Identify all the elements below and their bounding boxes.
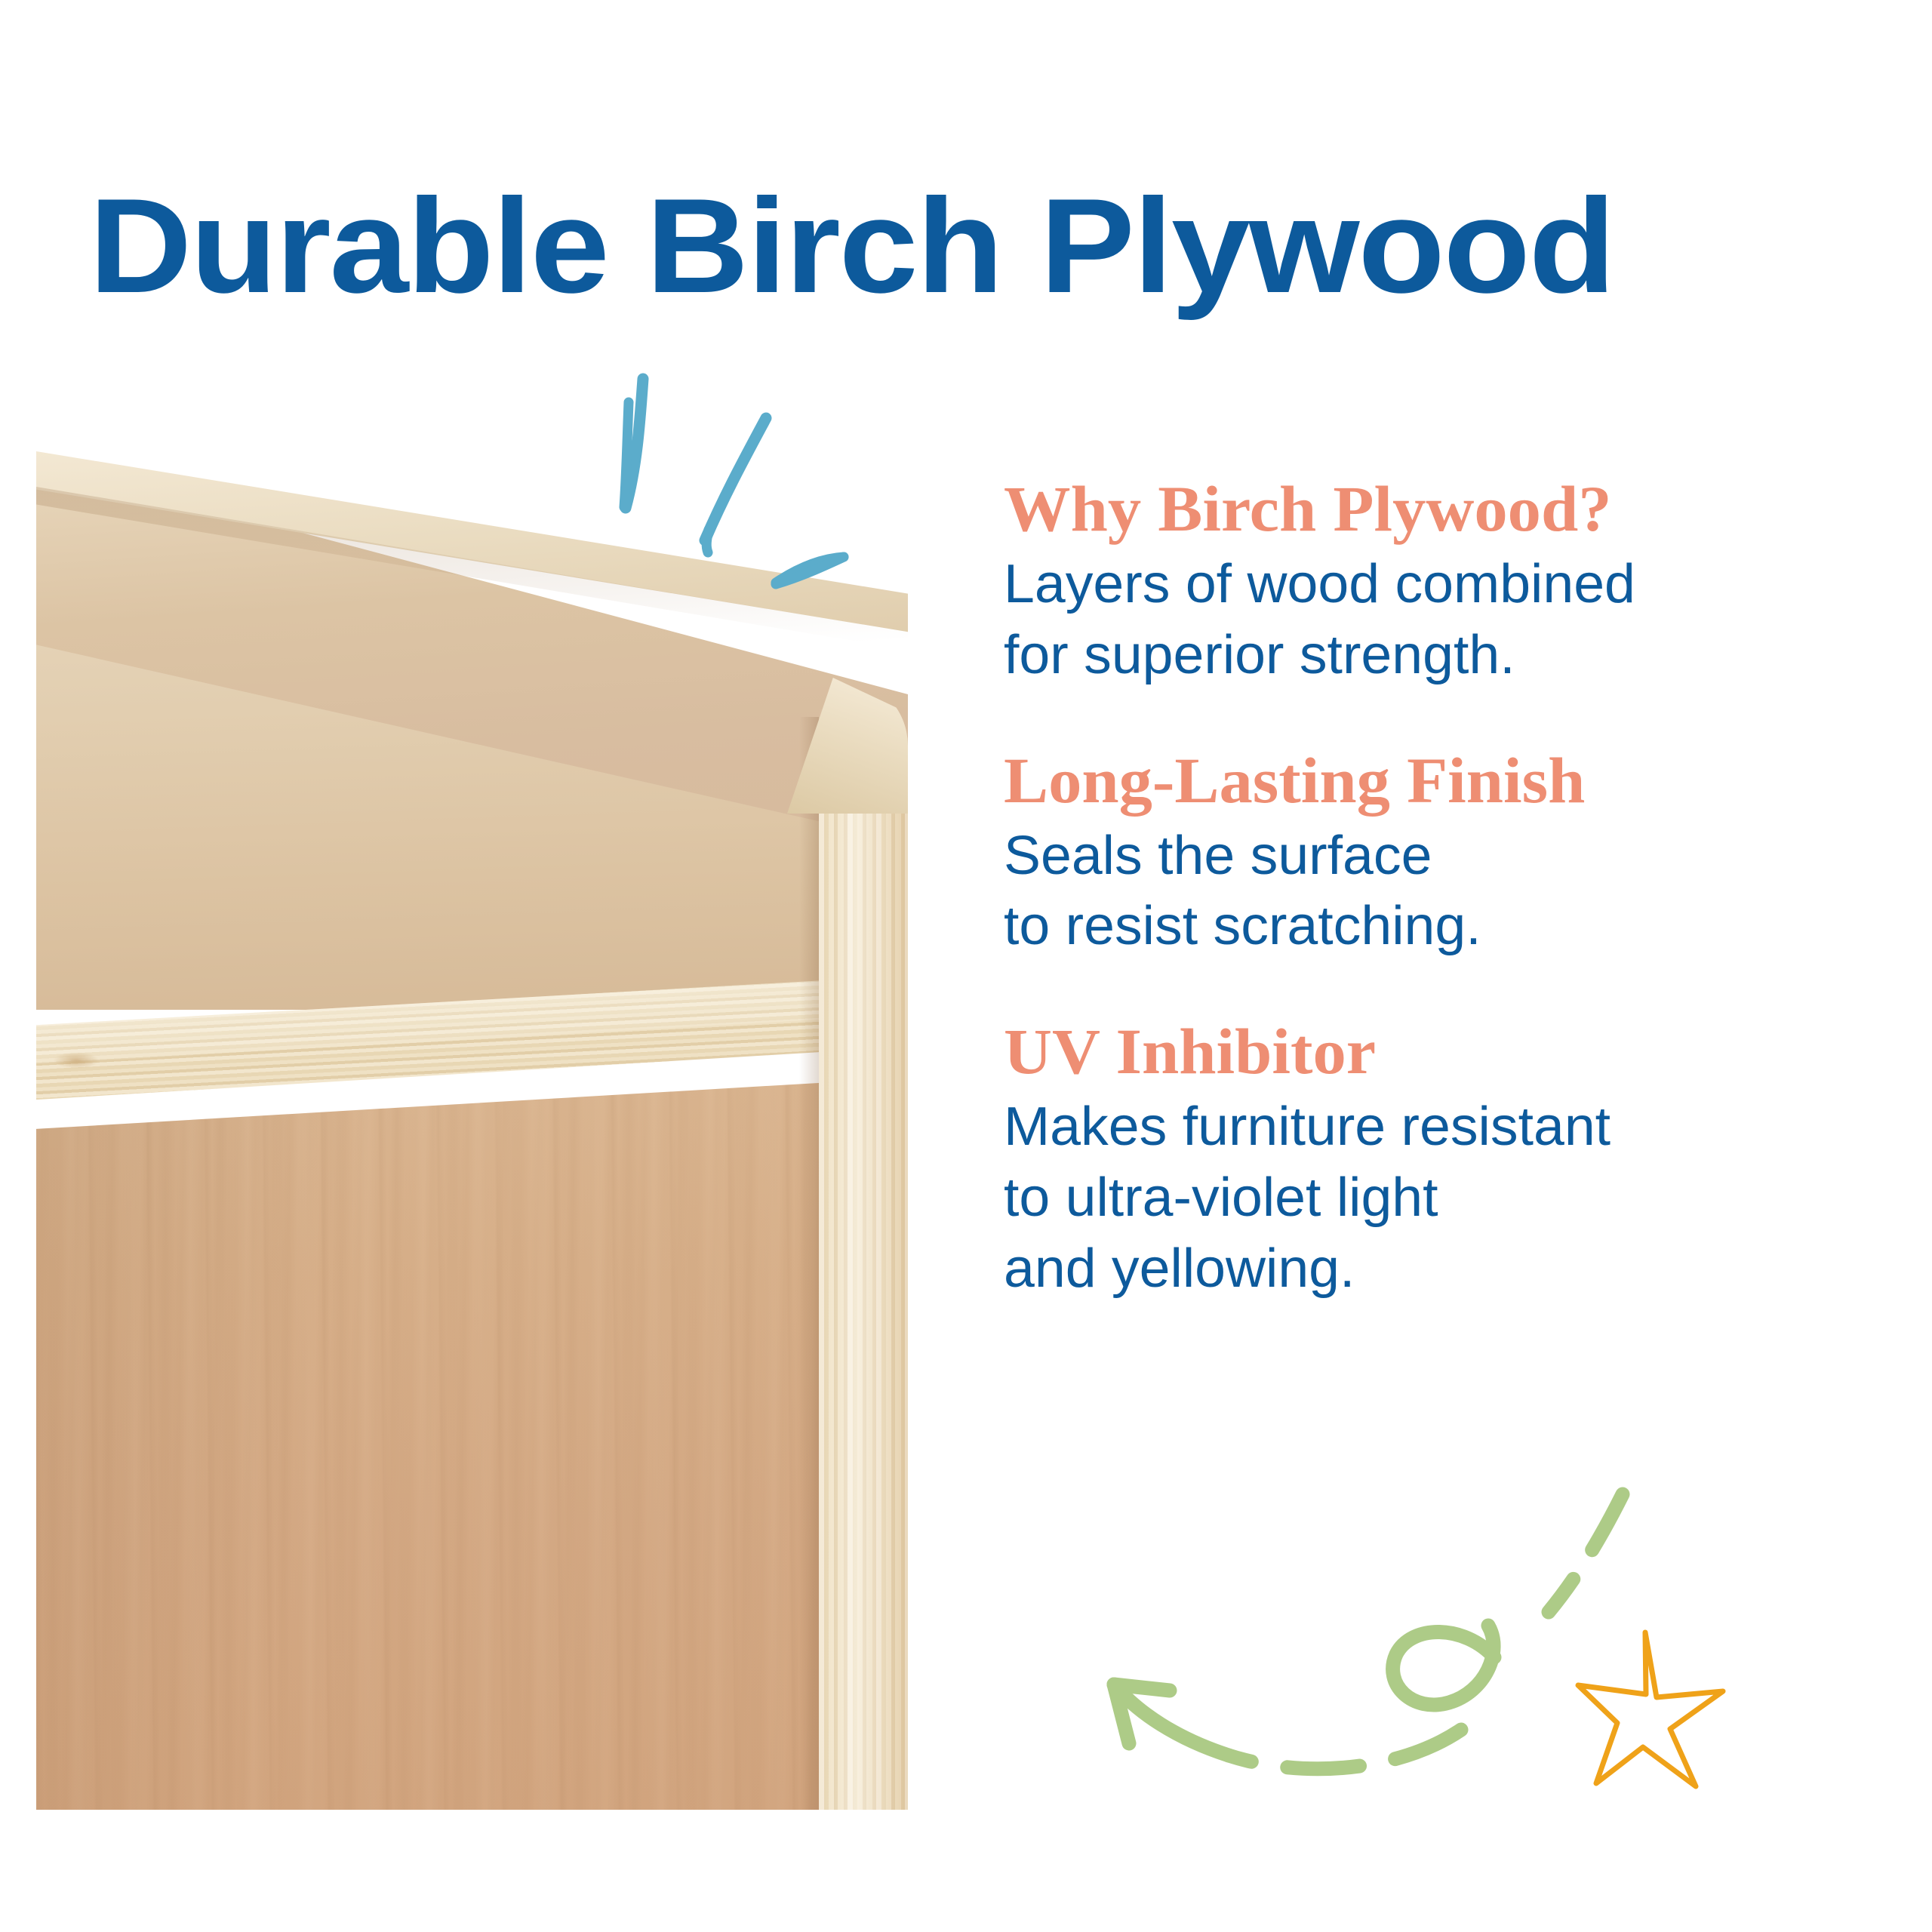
front-wood-panel	[36, 1078, 908, 1810]
rounded-plywood-edge-plies	[819, 709, 908, 1810]
sparkle-strokes-icon	[604, 368, 853, 595]
curved-dashed-arrow-icon	[1041, 1464, 1630, 1789]
feature-block-uv-inhibitor: UV Inhibitor Makes furniture resistant t…	[1004, 1015, 1834, 1304]
feature-body: Seals the surface to resist scratching.	[1004, 821, 1850, 962]
feature-body-line: to resist scratching.	[1004, 891, 1850, 962]
feature-block-why-birch-plywood: Why Birch Plywood? Layers of wood combin…	[1004, 472, 1834, 691]
feature-heading: UV Inhibitor	[1004, 1015, 1859, 1088]
feature-body-line: for superior strength.	[1004, 620, 1850, 691]
feature-body-line: to ultra-violet light	[1004, 1163, 1850, 1234]
feature-list: Why Birch Plywood? Layers of wood combin…	[1004, 472, 1834, 1304]
product-photo-birch-plywood-corner	[36, 451, 908, 1810]
page-title: Durable Birch Plywood	[89, 179, 1932, 313]
feature-body-line: and yellowing.	[1004, 1234, 1850, 1305]
feature-block-long-lasting-finish: Long-Lasting Finish Seals the surface to…	[1004, 744, 1834, 963]
feature-body: Makes furniture resistant to ultra-viole…	[1004, 1092, 1850, 1304]
infographic-canvas: Durable Birch Plywood	[0, 0, 1932, 1932]
hand-drawn-star-icon	[1574, 1619, 1747, 1792]
wood-knot-mark	[53, 1052, 100, 1069]
feature-body-line: Layers of wood combined	[1004, 549, 1850, 620]
feature-body-line: Seals the surface	[1004, 821, 1850, 892]
feature-heading: Long-Lasting Finish	[1004, 744, 1859, 817]
feature-body-line: Makes furniture resistant	[1004, 1092, 1850, 1163]
feature-body: Layers of wood combined for superior str…	[1004, 549, 1850, 691]
feature-heading: Why Birch Plywood?	[1004, 472, 1859, 545]
